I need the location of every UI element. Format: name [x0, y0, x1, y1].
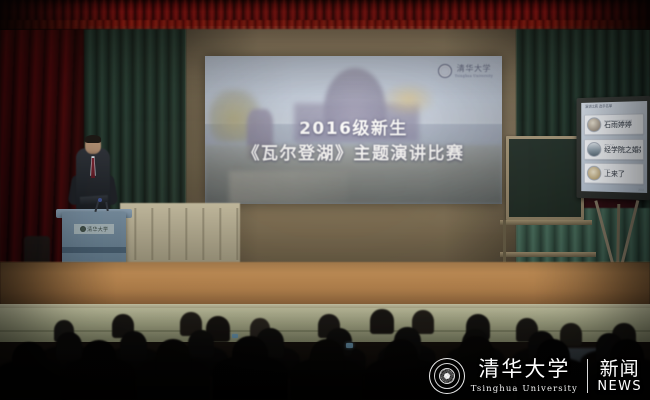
audience-head [156, 339, 190, 376]
podium-accent-band [62, 247, 126, 253]
list-item: Professional Paintings 石雨婷婷 [584, 113, 644, 135]
audience [0, 292, 650, 400]
valance-shadow-right [540, 0, 650, 30]
phone-screen-glow [232, 334, 238, 338]
audience-head [384, 339, 418, 376]
speaker-hair [85, 135, 101, 143]
blackboard-surface [509, 139, 581, 217]
stage-table-panels [120, 208, 240, 260]
thumbnail-image [587, 166, 601, 181]
audience-head [188, 330, 214, 358]
podium-nameplate: 清华大学 [74, 224, 114, 234]
valance-shadow-left [0, 0, 120, 30]
list-item: 清华大学 经学院之婚姻 [584, 138, 644, 159]
podium-nameplate-text: 清华大学 [87, 226, 108, 233]
monitor-list: Professional Paintings 石雨婷婷 清华大学 经学院之婚姻 … [584, 113, 644, 184]
audience-head [232, 336, 268, 374]
photograph: 清华大学 Tsinghua University 2016级新生 《瓦尔登湖》主… [0, 0, 650, 400]
tsinghua-seal-icon [80, 226, 86, 232]
list-item-title: 上来了 [604, 171, 625, 178]
audience-head [458, 336, 494, 374]
audience-head [82, 340, 116, 376]
blackboard-rail-lower [500, 252, 596, 257]
monitor-title: 演讲比赛 选手名单 [585, 103, 644, 110]
audience-head [310, 339, 344, 376]
audience-head [56, 332, 82, 360]
secondary-monitor: 演讲比赛 选手名单 Professional Paintings 石雨婷婷 清华… [577, 96, 650, 200]
screen-light-falloff [205, 56, 502, 204]
projection-screen: 清华大学 Tsinghua University 2016级新生 《瓦尔登湖》主… [205, 56, 502, 204]
phone-screen-glow [346, 343, 353, 348]
list-item: Blog 上来了 [584, 163, 644, 185]
list-item-title: 石雨婷婷 [604, 122, 632, 129]
monitor-footer: 2016 [638, 189, 644, 192]
microphone-head-icon [98, 198, 102, 202]
list-item-title: 经学院之婚姻 [604, 147, 641, 154]
thumbnail-image [587, 117, 601, 132]
audience-head [12, 342, 46, 378]
monitor-screen: 演讲比赛 选手名单 Professional Paintings 石雨婷婷 清华… [581, 101, 647, 193]
audience-head [536, 339, 570, 376]
blackboard [506, 136, 584, 220]
audience-head [610, 339, 644, 376]
audience-head [370, 309, 394, 334]
blackboard-leg [503, 220, 506, 262]
blackboard-rail-upper [500, 220, 592, 225]
thumbnail-image [587, 142, 601, 157]
audience-head [120, 331, 147, 360]
